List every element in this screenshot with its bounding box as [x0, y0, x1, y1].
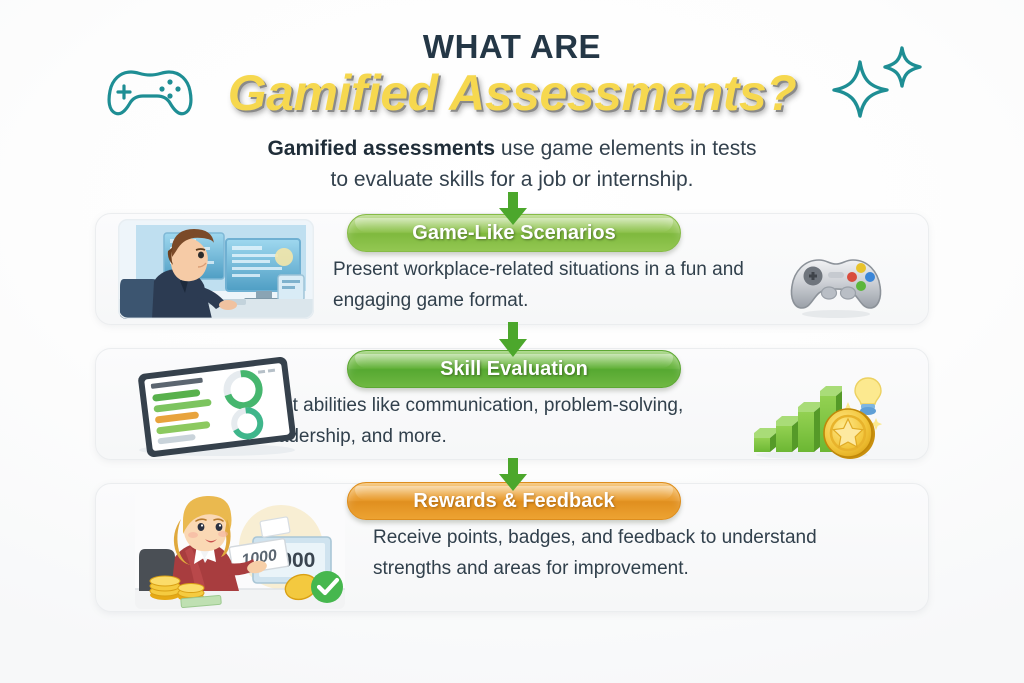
arrow-down-icon: [498, 192, 528, 226]
arrow-down-icon: [498, 458, 528, 492]
man-at-computer-illustration: [118, 219, 314, 319]
page-subtitle: Gamified assessments use game elements i…: [0, 133, 1024, 195]
header: WHAT ARE Gamified Assessments? Gamified …: [0, 0, 1024, 205]
tablet-dashboard-illustration: [112, 357, 322, 457]
game-controller-illustration: [786, 248, 886, 320]
woman-with-reward-voucher-illustration: 1000 1000: [135, 491, 345, 609]
card-text-rewards-feedback: Receive points, badges, and feedback to …: [373, 522, 893, 584]
subtitle-emphasis: Gamified assessments: [267, 137, 495, 160]
sparkles-icon: [830, 46, 925, 118]
subtitle-rest: use game elements in tests: [495, 137, 756, 160]
subtitle-line-2: to evaluate skills for a job or internsh…: [0, 164, 1024, 195]
card-text-skill-evaluation: Test abilities like communication, probl…: [263, 390, 763, 452]
card-text-game-like-scenarios: Present workplace-related situations in …: [333, 254, 753, 316]
bar-chart-coin-lightbulb-illustration: [752, 372, 884, 460]
infographic-canvas: WHAT ARE Gamified Assessments? Gamified …: [0, 0, 1024, 683]
arrow-down-icon: [498, 322, 528, 358]
